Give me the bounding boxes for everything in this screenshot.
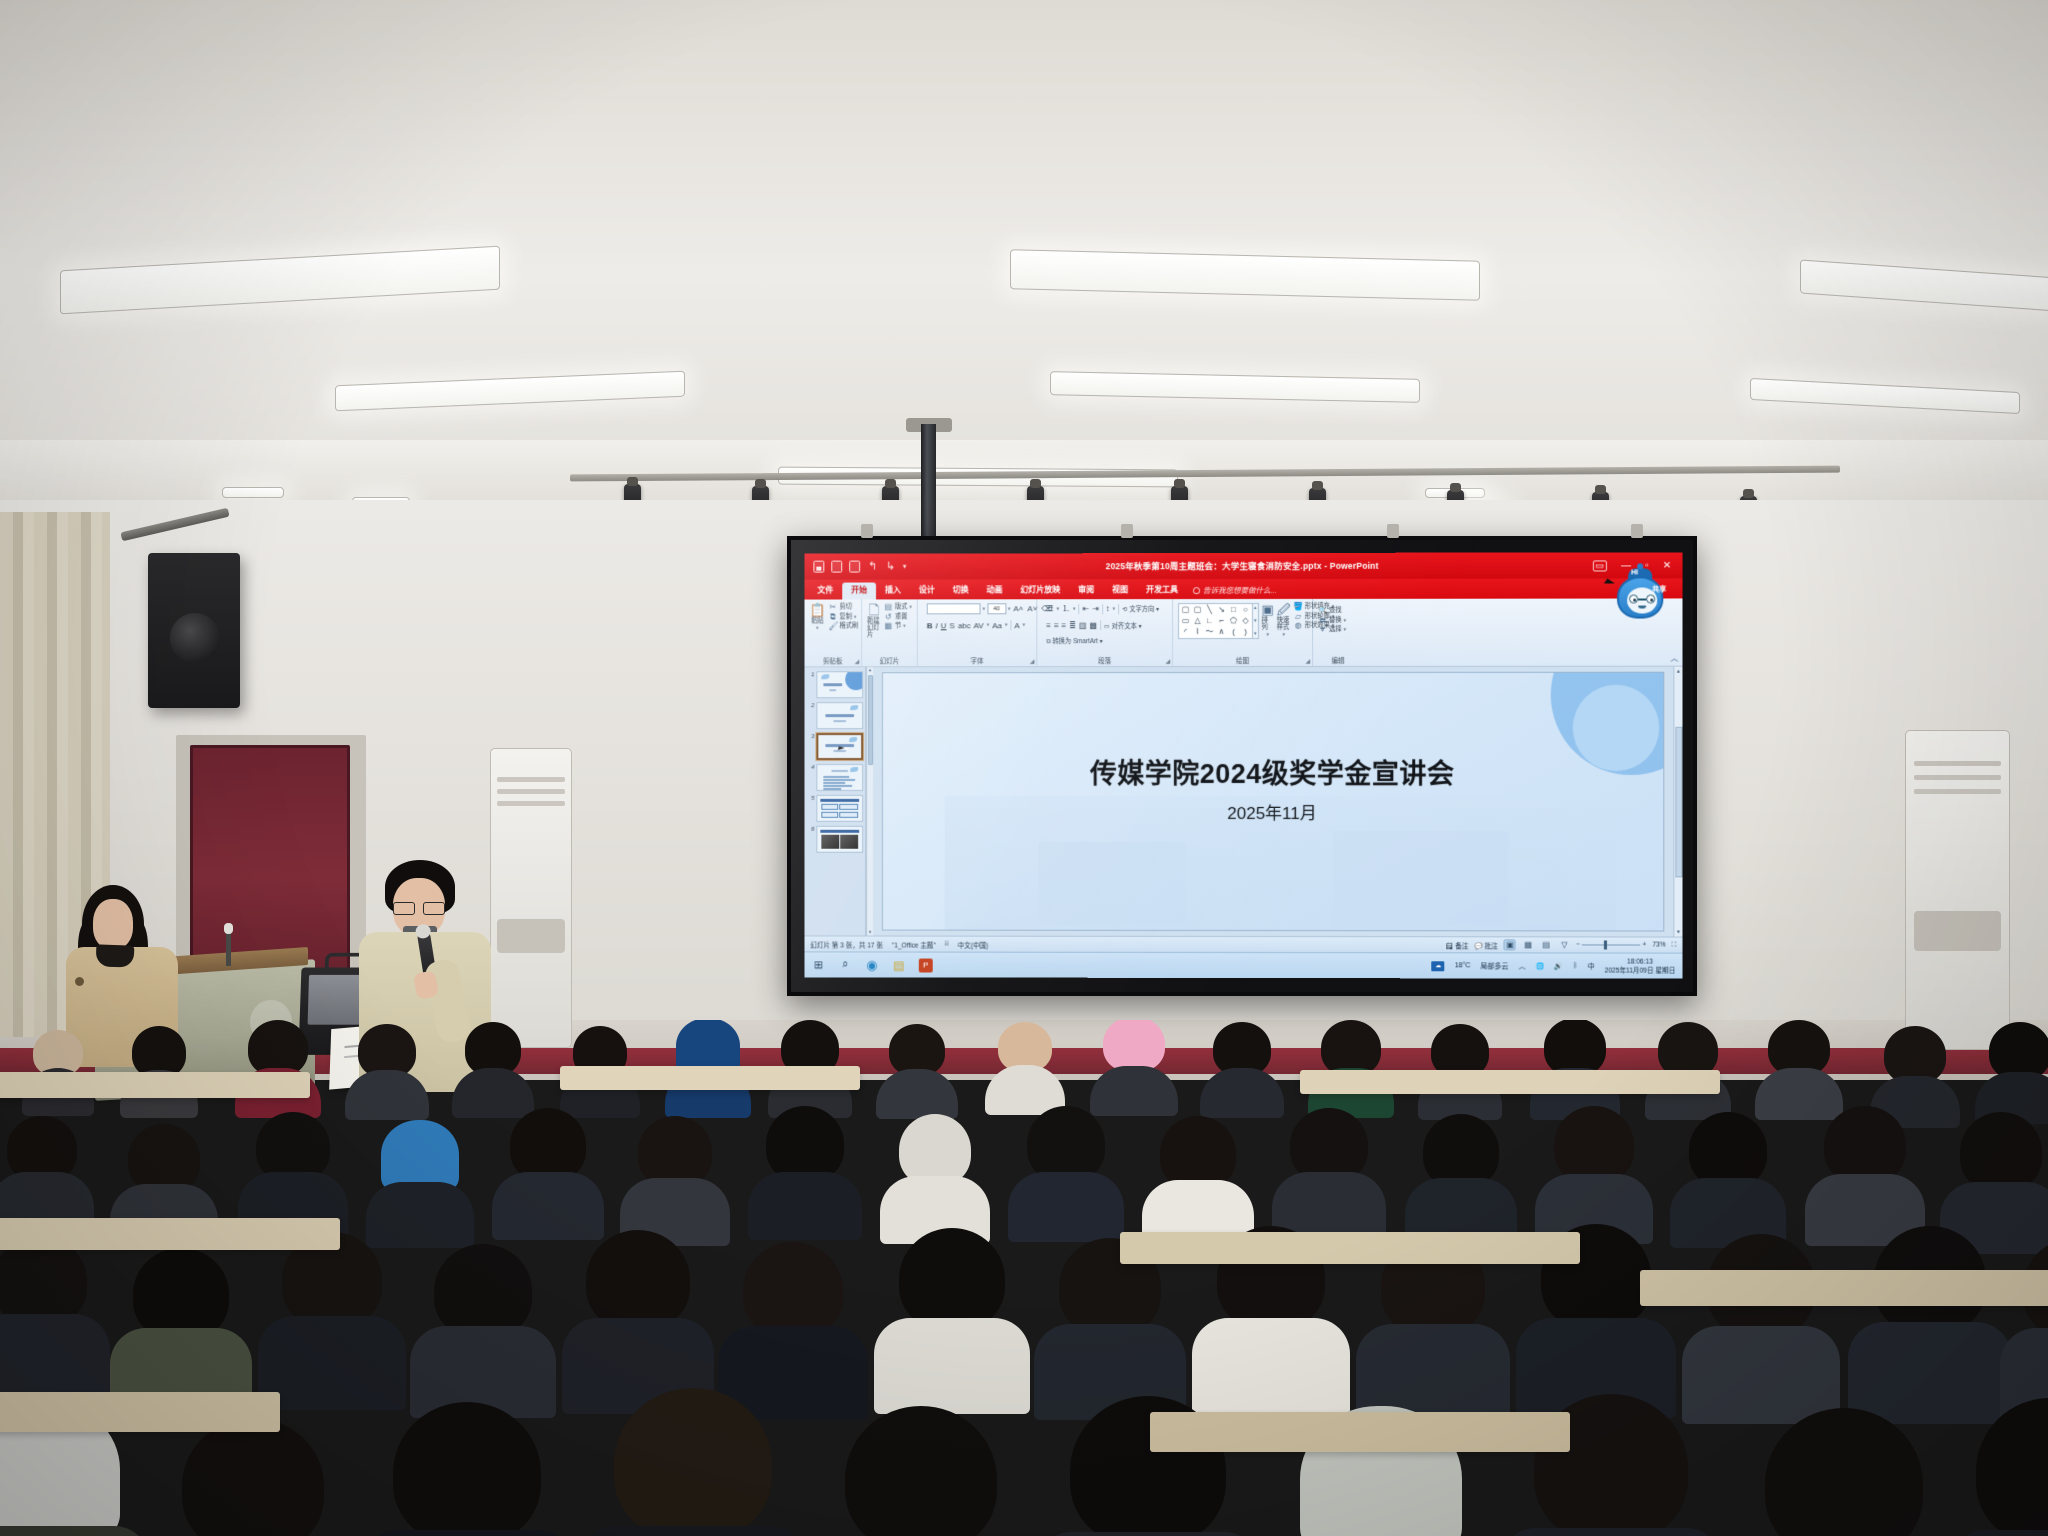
copy-button[interactable]: ⧉ 复制 ▾ (828, 613, 858, 621)
slide-number: 4 (807, 764, 814, 771)
audience-member (985, 1022, 1065, 1112)
deco-leaf (850, 705, 858, 710)
slide-number: 2 (807, 702, 814, 709)
clock-time: 18:06:13 (1605, 957, 1676, 966)
powerpoint-icon[interactable]: P (919, 958, 933, 972)
dialog-launcher-icon[interactable]: ◢ (1165, 658, 1170, 665)
shapes-more-icon[interactable]: ▾ (1254, 631, 1257, 637)
notes-button[interactable]: 🗒 备注 (1445, 940, 1468, 950)
collapse-ribbon-button[interactable]: ︿ (1666, 653, 1682, 666)
share-label[interactable]: 共享 (1652, 584, 1666, 594)
tab-animations[interactable]: 动画 (978, 582, 1012, 599)
shape-effect-icon: ◍ (1294, 622, 1303, 630)
audience-member (1645, 1022, 1731, 1116)
ribbon-group-slides: 🗋 新建幻灯片 ▤ 版式 ▾ ↺ (862, 599, 918, 666)
audience-member (1848, 1226, 2012, 1418)
group-label-clipboard: 剪贴板 (809, 655, 856, 666)
slide-vertical-scrollbar[interactable]: ▴ ▾ (1673, 667, 1682, 937)
slide-number: 3 (807, 733, 814, 740)
quick-style-button[interactable]: 🖉 快速样式 ▾ (1277, 603, 1291, 639)
numbering-icon[interactable]: ⒈ (1062, 603, 1070, 614)
audience-member (492, 1108, 604, 1236)
desk-row (1300, 1070, 1720, 1094)
temperature[interactable]: 18°C (1455, 962, 1471, 969)
replace-icon: ⇄ (1318, 616, 1327, 624)
list-item[interactable]: 3 (807, 733, 865, 760)
divider (1100, 620, 1101, 630)
new-slide-label: 新建幻灯片 (867, 617, 881, 638)
decrease-indent-icon[interactable]: ⇤ (1082, 604, 1089, 613)
shape-fill-icon: 🪣 (1294, 603, 1303, 611)
new-slide-button[interactable]: 🗋 新建幻灯片 (867, 603, 881, 638)
current-slide[interactable]: 传媒学院2024级奖学金宣讲会 2025年11月 (883, 673, 1663, 931)
chevron-down-icon[interactable]: ▾ (854, 613, 857, 621)
format-painter-button[interactable]: 🖌 格式刷 (828, 622, 858, 630)
shape-pentagon-icon[interactable]: ⬠ (1228, 616, 1239, 626)
thumb-title-line (831, 770, 848, 772)
text-direction-button[interactable]: ⟲ 文字方向 ▾ (1122, 604, 1159, 613)
thumb-body-line (823, 785, 852, 786)
distributed-icon[interactable]: ▩ (1089, 621, 1097, 630)
audience-member (110, 1248, 252, 1410)
list-item[interactable]: 4 (807, 764, 865, 791)
audience-member (1034, 1238, 1186, 1414)
mascot-badge: HI (1631, 569, 1638, 576)
chevron-down-icon[interactable]: ▾ (1023, 622, 1026, 628)
file-explorer-icon[interactable]: ▤ (892, 958, 906, 972)
desk-row (1640, 1270, 2048, 1306)
windows-start-icon[interactable]: ⊞ (811, 958, 825, 972)
format-painter-icon: 🖌 (828, 622, 837, 630)
audience-member (1805, 1106, 1925, 1242)
slide-counter[interactable]: 幻灯片 第 3 张，共 17 张 (810, 939, 882, 949)
open-icon[interactable] (849, 561, 860, 573)
slide-number: 6 (807, 826, 814, 833)
shape-circle-icon[interactable]: ○ (1240, 605, 1251, 615)
thumb-box (839, 812, 858, 818)
new-slide-icon: 🗋 (869, 603, 879, 616)
chevron-down-icon[interactable]: ▾ (1344, 626, 1347, 634)
desk-row (0, 1392, 280, 1432)
shape-chevron-icon[interactable]: ∧ (1216, 627, 1227, 637)
zoom-handle[interactable] (1604, 940, 1607, 949)
shape-arc-icon[interactable]: ◜ (1180, 627, 1191, 637)
coat-button (75, 977, 84, 986)
desk-row (1120, 1232, 1580, 1264)
audience-member (1670, 1112, 1786, 1244)
screen-mount (1631, 524, 1643, 538)
mascot-glasses-bridge (1638, 598, 1646, 600)
thumb-photo (840, 835, 858, 849)
increase-font-size-icon[interactable]: A˄ (1012, 604, 1024, 613)
replace-button[interactable]: ⇄ 替换 ▾ (1318, 616, 1346, 624)
group-label-editing: 编辑 (1318, 655, 1358, 666)
quick-style-icon: 🖉 (1277, 603, 1291, 616)
shape-rounded-icon[interactable]: ▢ (1192, 605, 1203, 615)
zoom-slider[interactable]: − + (1576, 941, 1646, 948)
audience-member (1090, 1020, 1178, 1112)
window-title: 2025年秋季第10周主题班会：大学生寝食消防安全.pptx - PowerPo… (804, 559, 1682, 572)
ribbon-display-options-icon[interactable]: ▭ (1592, 560, 1607, 571)
tab-slideshow[interactable]: 幻灯片放映 (1011, 582, 1069, 599)
quick-access-toolbar[interactable]: ↰ ↳ ▾ (804, 561, 913, 573)
bluetooth-icon[interactable]: ᛒ (1573, 962, 1577, 969)
align-text-button[interactable]: ▭ 对齐文本 ▾ (1104, 621, 1142, 630)
scissors-icon: ✂ (828, 603, 837, 611)
chevron-down-icon[interactable]: ▾ (909, 603, 912, 611)
audience-member (1682, 1234, 1840, 1418)
find-label: 查找 (1329, 607, 1342, 615)
audience-member (452, 1022, 534, 1112)
network-icon[interactable]: 🌐 (1536, 962, 1545, 970)
shape-freeform-icon[interactable]: ⌇ (1192, 627, 1203, 637)
eyeglasses (393, 902, 445, 913)
chevron-down-icon[interactable]: ▾ (816, 625, 818, 632)
search-icon: 🔍 (1318, 607, 1327, 615)
select-button[interactable]: ⌖ 选择 ▾ (1318, 626, 1346, 634)
change-case-icon[interactable]: Aa (992, 621, 1002, 630)
tell-me-label: 告诉我您想要做什么... (1203, 585, 1277, 596)
projection-screen: ↰ ↳ ▾ 2025年秋季第10周主题班会：大学生寝食消防安全.pptx - P… (787, 536, 1697, 996)
audience-member (258, 1232, 406, 1402)
convert-to-smartart-button[interactable]: ⧉ 转换为 SmartArt ▾ (1046, 636, 1102, 646)
thumb-body-line (823, 788, 841, 789)
weather-icon[interactable]: ☁ (1432, 961, 1445, 971)
reading-view-button[interactable]: ▤ (1540, 939, 1552, 950)
shapes-gallery-scrollbar[interactable]: ▴ ▾ ▾ (1253, 603, 1259, 639)
audience-member (366, 1120, 474, 1244)
powerpoint-window[interactable]: ↰ ↳ ▾ 2025年秋季第10周主题班会：大学生寝食消防安全.pptx - P… (804, 552, 1682, 978)
format-painter-label: 格式刷 (839, 622, 858, 630)
status-bar[interactable]: 幻灯片 第 3 张，共 17 张 "1_Office 主题" ⌸ 中文(中国) … (804, 935, 1682, 952)
edge-browser-icon[interactable]: ◉ (865, 958, 879, 972)
shape-elbow-icon[interactable]: ∟ (1204, 616, 1215, 626)
mascot-mouth (1638, 606, 1646, 609)
align-center-icon[interactable]: ≡ (1054, 621, 1059, 630)
clock[interactable]: 18:06:13 2025年11月09日 星期日 (1605, 957, 1676, 975)
audience-member (0, 1116, 94, 1234)
underline-icon[interactable]: U (941, 621, 947, 630)
columns-icon[interactable]: ▥ (1079, 621, 1087, 630)
strikethrough-icon[interactable]: abc (958, 621, 971, 630)
audience-member (1730, 1408, 1958, 1536)
slide-number: 1 (807, 671, 814, 678)
slide-text-block[interactable]: 传媒学院2024级奖学金宣讲会 2025年11月 (883, 760, 1663, 824)
normal-view-button[interactable]: ▣ (1504, 939, 1516, 950)
list-item[interactable]: 2 (807, 702, 865, 729)
tab-design[interactable]: 设计 (910, 582, 944, 599)
increase-indent-icon[interactable]: ⇥ (1092, 604, 1099, 613)
layout-button[interactable]: ▤ 版式 ▾ (884, 603, 912, 611)
copy-label: 复制 (839, 613, 852, 621)
ribbon-group-drawing: ▢ ▢ ╲ ↘ □ ○ ▭ △ ∟ ⌐ (1173, 599, 1313, 666)
scroll-down-icon[interactable]: ▾ (1677, 929, 1680, 936)
projector-pole (921, 424, 936, 552)
cut-button[interactable]: ✂ 剪切 (828, 603, 858, 611)
audience-member (880, 1114, 990, 1240)
font-size-input[interactable]: 40 (987, 603, 1006, 614)
zoom-level[interactable]: 73% (1652, 942, 1665, 949)
font-color-icon[interactable]: A (1014, 621, 1019, 630)
tab-insert[interactable]: 插入 (876, 582, 910, 599)
thumb-box (821, 804, 838, 810)
desk-row (560, 1066, 860, 1090)
audience-member (1308, 1020, 1394, 1114)
tab-file[interactable]: 文件 (808, 583, 842, 600)
section-icon: ▦ (884, 622, 893, 630)
divider (1010, 620, 1011, 630)
shape-outline-icon: ▱ (1294, 612, 1303, 620)
audience-member (580, 1388, 806, 1536)
thumb-body-line (823, 782, 845, 783)
lectern-microphone (226, 930, 231, 966)
shape-wave-icon[interactable]: 〜 (1204, 627, 1215, 637)
bold-icon[interactable]: B (927, 621, 933, 630)
shape-brace-left-icon[interactable]: ( (1228, 627, 1239, 637)
audience-member (812, 1406, 1030, 1536)
theme-name[interactable]: "1_Office 主题" (892, 939, 936, 949)
bullets-icon[interactable]: ☰ (1046, 604, 1053, 613)
slide-subtitle[interactable]: 2025年11月 (883, 799, 1663, 824)
replace-label: 替换 (1329, 616, 1342, 624)
reset-button[interactable]: ↺ 重置 (884, 613, 912, 621)
font-name-input[interactable] (927, 603, 981, 614)
find-button[interactable]: 🔍 查找 (1318, 607, 1346, 615)
thumb-header-bar (820, 830, 859, 833)
audience-member (876, 1024, 958, 1114)
audience-member (22, 1030, 94, 1112)
shape-rect-icon[interactable]: ▢ (1180, 605, 1191, 615)
list-item[interactable]: 1 (807, 671, 865, 698)
align-right-icon[interactable]: ≡ (1062, 621, 1067, 630)
divider (1102, 604, 1103, 614)
group-label-drawing: 绘图 (1178, 655, 1307, 666)
shapes-gallery[interactable]: ▢ ▢ ╲ ↘ □ ○ ▭ △ ∟ ⌐ (1178, 603, 1253, 639)
shape-diamond-icon[interactable]: ◇ (1240, 616, 1251, 626)
lightbulb-icon (1193, 587, 1200, 594)
audience-member (1008, 1106, 1124, 1238)
slide-sorter-view-button[interactable]: ▦ (1522, 939, 1534, 950)
lecture-hall-scene: ↰ ↳ ▾ 2025年秋季第10周主题班会：大学生寝食消防安全.pptx - P… (0, 0, 2048, 1536)
deco-leaf (849, 737, 857, 742)
wall-speaker (148, 553, 240, 708)
chevron-down-icon[interactable]: ▾ (903, 622, 906, 630)
dialog-launcher-icon[interactable]: ◢ (1305, 658, 1310, 665)
thumb-title-line (825, 714, 854, 717)
language-indicator[interactable]: 中文(中国) (958, 939, 989, 949)
powerpoint-title-bar: ↰ ↳ ▾ 2025年秋季第10周主题班会：大学生寝食消防安全.pptx - P… (804, 552, 1682, 579)
new-icon[interactable] (831, 561, 842, 573)
save-icon[interactable] (813, 561, 824, 573)
ribbon[interactable]: 📋 粘贴 ▾ ✂ 剪切 ⧉ (804, 598, 1682, 667)
shape-brace-right-icon[interactable]: ) (1240, 627, 1251, 637)
character-spacing-icon[interactable]: AV (974, 621, 984, 630)
redo-icon[interactable]: ↳ (885, 561, 896, 573)
ribbon-group-font: ▾ 40 ▾ A˄ A˅ ⌫ B I U S (918, 599, 1038, 666)
audience-member (1272, 1108, 1386, 1238)
paste-button[interactable]: 📋 粘贴 ▾ (809, 604, 825, 633)
audience-member (748, 1106, 862, 1236)
ribbon-group-paragraph: ☰ ▾ ⒈ ▾ ⇤ ⇥ ↕ ▾ ⟲ 文字方 (1037, 599, 1173, 666)
zoom-in-button[interactable]: + (1642, 942, 1646, 949)
scroll-up-icon[interactable]: ▴ (1677, 668, 1680, 675)
list-item[interactable]: 6 (807, 826, 865, 853)
chevron-down-icon[interactable]: ▾ (1113, 606, 1116, 612)
thumb-body-line (823, 779, 855, 780)
divider (1078, 604, 1079, 614)
slideshow-view-button[interactable]: ▽ (1558, 939, 1570, 950)
screen-mount (861, 524, 873, 538)
chevron-down-icon[interactable]: ▾ (987, 622, 990, 628)
chevron-down-icon[interactable]: ▾ (1282, 632, 1285, 639)
section-button[interactable]: ▦ 节 ▾ (884, 622, 912, 630)
tab-home[interactable]: 开始 (842, 583, 876, 600)
audience-member (874, 1228, 1030, 1408)
slide-thumbnail[interactable] (816, 702, 863, 729)
thumb-title-line (823, 683, 842, 686)
divider (1118, 604, 1119, 614)
audience-seating (0, 1020, 2048, 1536)
shape-triangle-icon[interactable]: △ (1192, 616, 1203, 626)
shape-square-icon[interactable]: □ (1228, 605, 1239, 615)
shadow-icon[interactable]: S (949, 621, 954, 630)
tab-developer[interactable]: 开发工具 (1137, 582, 1187, 599)
editing-area: 1 2 (804, 667, 1682, 937)
weather-condition[interactable]: 局部多云 (1481, 961, 1509, 971)
deco-circle (845, 671, 863, 690)
audience-member (562, 1230, 714, 1406)
audience-member (360, 1402, 574, 1536)
fit-to-window-button[interactable]: ⛶ (1672, 941, 1677, 949)
slide-title[interactable]: 传媒学院2024级奖学金宣讲会 (883, 760, 1663, 790)
ribbon-group-editing: 🔍 查找 ⇄ 替换 ▾ ⌖ 选择 (1313, 599, 1363, 666)
tab-view[interactable]: 视图 (1103, 582, 1137, 599)
tell-me-search[interactable]: 告诉我您想要做什么... (1187, 582, 1283, 599)
slide-thumbnail[interactable] (816, 795, 863, 822)
air-conditioner-right (1905, 730, 2010, 1050)
undo-icon[interactable]: ↰ (867, 561, 878, 573)
deco-leaf (821, 674, 829, 679)
tab-review[interactable]: 审阅 (1069, 582, 1103, 599)
audience-member (235, 1020, 321, 1112)
status-bar-right[interactable]: 🗒 备注 💬 批注 ▣ ▦ ▤ ▽ − + 73% (1445, 939, 1676, 950)
quick-style-label: 快速样式 (1277, 617, 1291, 631)
audience-member (1975, 1022, 2048, 1118)
shape-line-icon[interactable]: ╲ (1204, 605, 1215, 615)
deco-leaf (850, 767, 858, 772)
comments-button[interactable]: 💬 批注 (1475, 940, 1498, 950)
ime-indicator[interactable]: 中 (1588, 961, 1595, 971)
audience-member (1535, 1106, 1653, 1240)
italic-icon[interactable]: I (936, 621, 938, 630)
slide-thumbnail[interactable] (816, 826, 863, 853)
chevron-down-icon[interactable]: ▾ (1008, 606, 1011, 612)
select-label: 选择 (1329, 626, 1342, 634)
chevron-down-icon[interactable]: ▾ (1073, 606, 1076, 612)
scrollbar-thumb[interactable] (1675, 726, 1682, 876)
thumb-box (839, 804, 858, 810)
justify-icon[interactable]: ≣ (1069, 621, 1076, 630)
volume-icon[interactable]: 🔊 (1555, 962, 1564, 970)
ribbon-group-clipboard: 📋 粘贴 ▾ ✂ 剪切 ⧉ (804, 599, 862, 666)
ribbon-tab-bar[interactable]: 文件 开始 插入 设计 切换 动画 幻灯片放映 审阅 视图 开发工具 告诉我您想… (804, 578, 1682, 599)
scroll-up-icon[interactable]: ▴ (869, 667, 872, 673)
face (93, 899, 133, 949)
office-assistant-mascot[interactable]: 共享 HI (1614, 566, 1666, 622)
chevron-down-icon[interactable]: ▾ (1056, 606, 1059, 612)
chevron-down-icon[interactable]: ▾ (1344, 616, 1347, 624)
windows-taskbar[interactable]: ⊞ ⌕ ◉ ▤ P ☁ 18°C 局部多云 ︿ 🌐 🔊 ᛒ 中 (804, 951, 1682, 978)
audience-member (1530, 1020, 1620, 1114)
audience-member (620, 1116, 730, 1242)
ceiling-light (222, 487, 284, 498)
tab-transitions[interactable]: 切换 (944, 582, 978, 599)
reset-label: 重置 (895, 613, 908, 621)
scrollbar-thumb[interactable] (868, 675, 873, 765)
audience-member (150, 1418, 356, 1536)
system-tray[interactable]: ☁ 18°C 局部多云 ︿ 🌐 🔊 ᛒ 中 18:06:13 2025年11月0… (1432, 957, 1676, 975)
slide-thumbnail-pane[interactable]: 1 2 (804, 667, 866, 935)
mascot-head (1617, 576, 1663, 618)
shape-arrow-icon[interactable]: ↘ (1216, 605, 1227, 615)
arrange-icon: ▣ (1262, 603, 1274, 616)
chevron-down-icon[interactable]: ▾ (903, 561, 914, 573)
scroll-up-icon[interactable]: ▴ (1254, 605, 1257, 611)
desk-row (1150, 1412, 1570, 1452)
section-label: 节 (895, 622, 901, 630)
align-left-icon[interactable]: ≡ (1046, 621, 1051, 630)
shape-curve-icon[interactable]: ⌐ (1216, 616, 1227, 626)
line-spacing-icon[interactable]: ↕ (1106, 604, 1110, 613)
chevron-down-icon[interactable]: ▾ (983, 606, 986, 612)
mascot-eye-left (1629, 594, 1638, 603)
arrange-button[interactable]: ▣ 排列 ▾ (1262, 603, 1274, 639)
audience-member (1142, 1116, 1254, 1244)
shape-rect2-icon[interactable]: ▭ (1180, 616, 1191, 626)
thumb-header-bar (820, 799, 859, 802)
search-icon[interactable]: ⌕ (838, 958, 852, 972)
thumb-photo (821, 835, 839, 849)
list-item[interactable]: 5 (807, 795, 865, 822)
chevron-down-icon[interactable]: ▾ (1005, 622, 1008, 628)
slide-editing-canvas[interactable]: 传媒学院2024级奖学金宣讲会 2025年11月 (873, 667, 1673, 937)
slide-thumbnail-selected[interactable] (816, 733, 863, 760)
dialog-launcher-icon[interactable]: ◢ (855, 658, 860, 665)
select-icon: ⌖ (1318, 626, 1327, 634)
zoom-out-button[interactable]: − (1576, 941, 1580, 948)
mascot-eye-right (1646, 594, 1655, 603)
arrange-label: 排列 (1262, 617, 1274, 631)
thumbnail-scrollbar[interactable]: ▴ ▾ (866, 667, 873, 935)
desk-row (0, 1218, 340, 1250)
zoom-track[interactable] (1582, 944, 1640, 945)
chevron-down-icon[interactable]: ▾ (1266, 632, 1269, 639)
slide-thumbnail[interactable] (816, 671, 863, 698)
show-hidden-icons[interactable]: ︿ (1519, 961, 1526, 971)
scroll-down-icon[interactable]: ▾ (1254, 618, 1257, 624)
screen-display-area: ↰ ↳ ▾ 2025年秋季第10周主题班会：大学生寝食消防安全.pptx - P… (804, 552, 1682, 978)
group-label-paragraph: 段落 (1042, 655, 1167, 666)
group-label-font: 字体 (923, 655, 1032, 666)
audience-member (345, 1024, 429, 1114)
layout-label: 版式 (895, 603, 908, 611)
desk-row (0, 1072, 310, 1098)
slide-thumbnail[interactable] (816, 764, 863, 791)
dialog-launcher-icon[interactable]: ◢ (1030, 658, 1035, 665)
proofing-icon[interactable]: ⌸ (945, 940, 949, 948)
audience-member (1755, 1020, 1843, 1116)
reset-icon: ↺ (884, 613, 893, 621)
